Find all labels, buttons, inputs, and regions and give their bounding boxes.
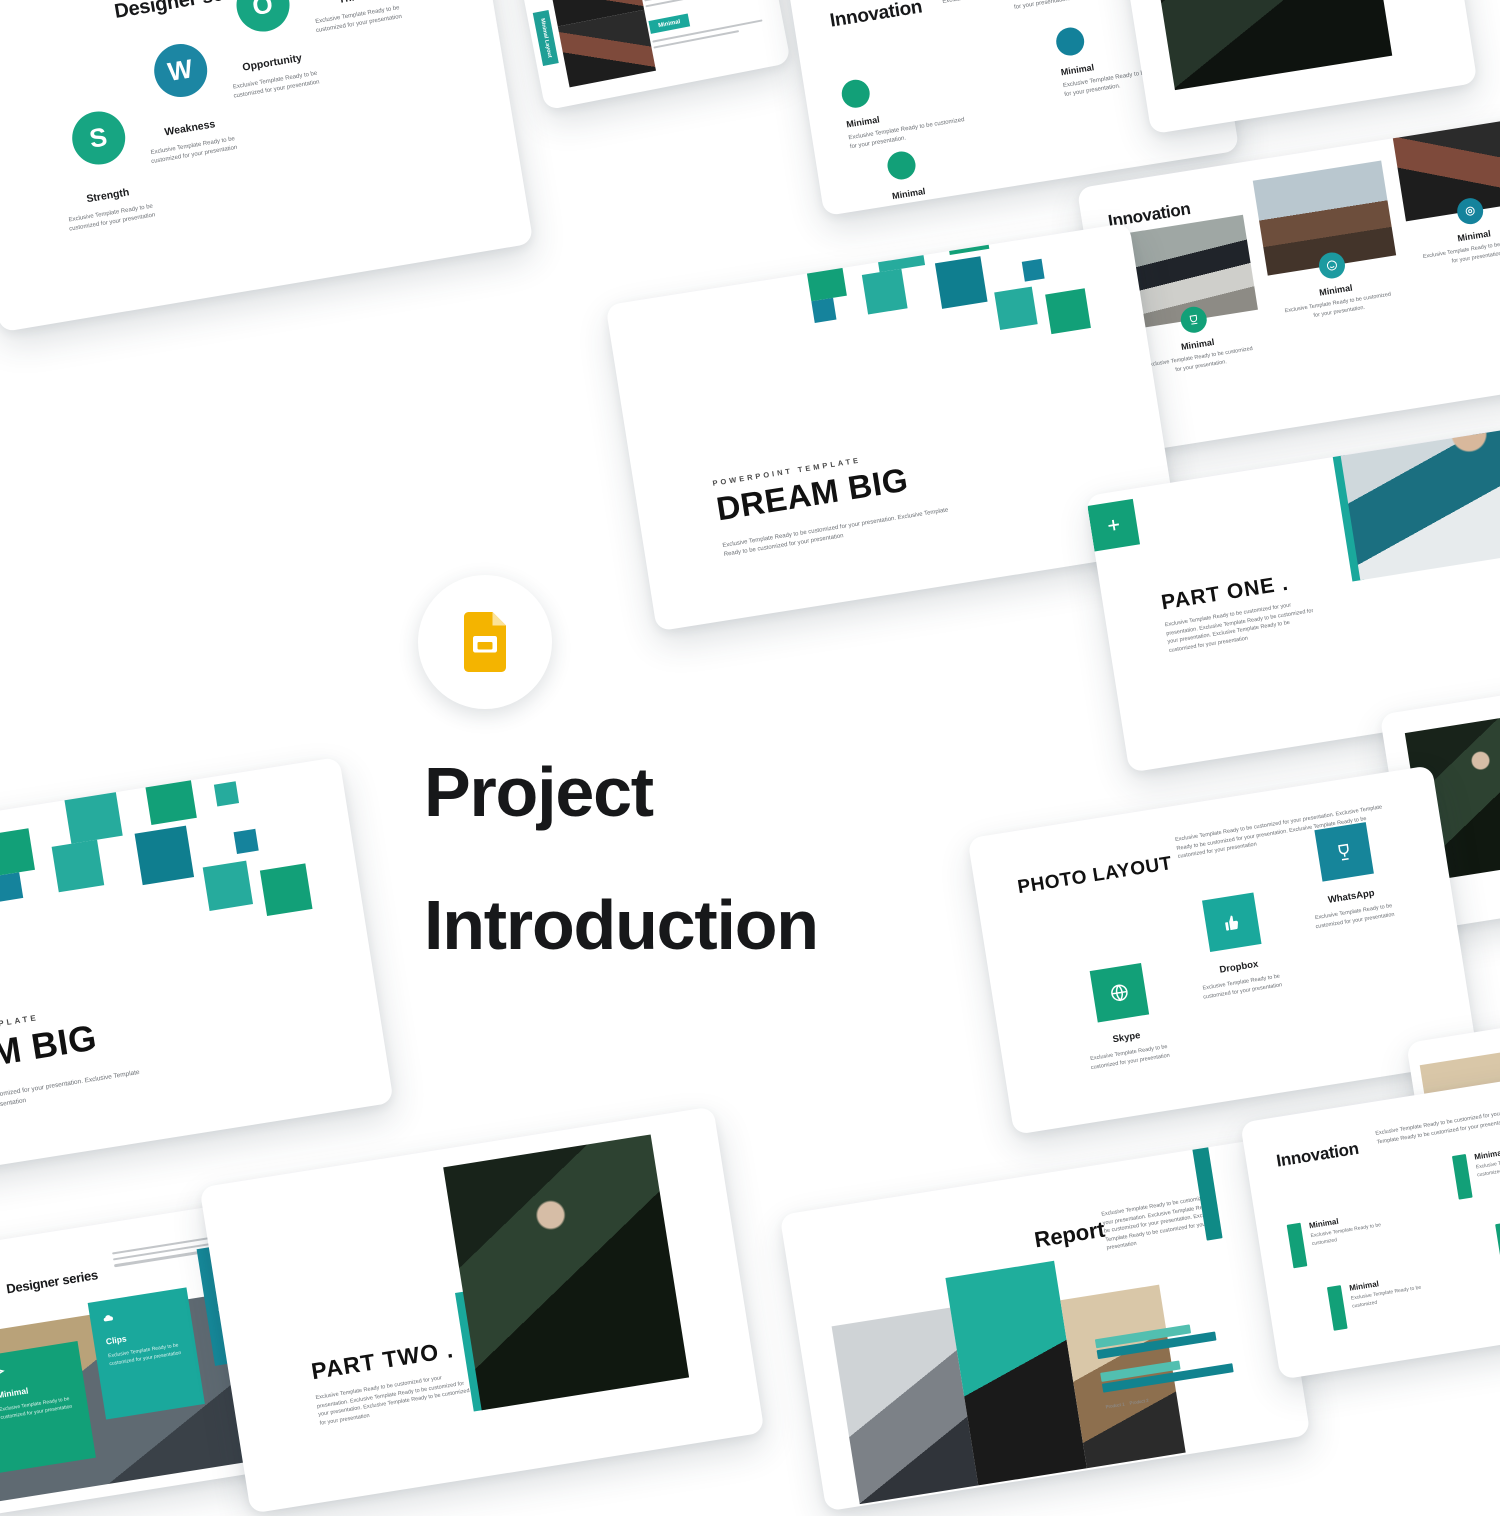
send-icon (0, 1365, 6, 1379)
swot-circle-o: O (232, 0, 293, 36)
swot-letter-o: O (250, 0, 275, 22)
innovation-gym-badge-2[interactable]: Minimal (648, 13, 690, 33)
mosaic-pattern (789, 223, 1181, 439)
innovation-bars-body: Exclusive Template Ready to be customize… (1375, 1100, 1500, 1147)
swot-circle-w: W (150, 40, 211, 101)
innovation-bar-1 (1287, 1223, 1308, 1269)
page-title: Project Introduction (424, 752, 1064, 965)
slides-template-preview-board: Designer series S Strength Exclusive Tem… (0, 0, 1500, 1500)
innovation-bar-2 (1452, 1154, 1473, 1200)
swot-letter-w: W (166, 53, 195, 88)
dream-big-slide-second[interactable]: POWERPOINT TEMPLATE DREAM BIG Exclusive … (0, 757, 394, 1193)
swot-circle-s: S (68, 108, 129, 169)
innovation-dot-1 (840, 78, 872, 110)
innovation-gym-slide[interactable]: Innovation Minimal Minimal Minimal Layou… (515, 0, 791, 110)
swot-letter-s: S (87, 121, 109, 154)
thumb-icon (1202, 893, 1261, 952)
report-chart: Product 1 Product 2 (1067, 1268, 1295, 1429)
plus-icon (1087, 499, 1140, 552)
designer-card-body-2: Exclusive Template Ready to be customize… (108, 1342, 185, 1369)
designer-card-2[interactable]: Clips Exclusive Template Ready to be cus… (88, 1287, 205, 1419)
cloud-icon (101, 1311, 115, 1325)
report-slide[interactable]: Report Exclusive Template Ready to be cu… (780, 1139, 1311, 1512)
innovation-gym-tab[interactable]: Minimal Layout (533, 10, 559, 66)
innovation-dot-4 (1054, 26, 1086, 58)
designer-card-body-1: Exclusive Template Ready to be customize… (0, 1395, 76, 1422)
report-legend-2: Product 2 (1129, 1398, 1149, 1406)
dream-big-2-body: Exclusive Template Ready to be customize… (0, 1066, 154, 1127)
innovation-dot-3 (885, 149, 917, 181)
page-title-line-2: Introduction (424, 885, 1064, 966)
innovation-bar-3 (1327, 1285, 1348, 1331)
part-two-photo (443, 1134, 689, 1410)
report-legend-1: Product 1 (1105, 1402, 1125, 1410)
globe-icon (1090, 963, 1149, 1022)
innovation-bars-title: Innovation (1275, 1139, 1360, 1172)
innovation-dot-body-2: Exclusive Template Ready to be customize… (1012, 0, 1133, 13)
dream-big-slide[interactable]: POWERPOINT TEMPLATE DREAM BIG Exclusive … (605, 223, 1180, 632)
page-title-line-1: Project (424, 752, 1064, 833)
report-title: Report (1033, 1217, 1107, 1254)
google-slides-icon (418, 575, 552, 709)
innovation-dots-title: Innovation (828, 0, 923, 33)
photo-strip-slide-top-right[interactable] (1112, 0, 1477, 134)
part-one-photo (1333, 427, 1500, 580)
innovation-card-photo-3 (1391, 115, 1500, 221)
trophy-icon (1314, 822, 1373, 881)
mosaic-pattern-second (0, 757, 394, 1022)
innovation-bar-4 (1495, 1222, 1500, 1268)
photo-strip-image (1147, 0, 1392, 90)
swot-slide[interactable]: Designer series S Strength Exclusive Tem… (0, 0, 534, 332)
designer-cards-title: Designer series (5, 1267, 99, 1296)
innovation-bars-label-2: Minimal (1474, 1139, 1500, 1162)
innovation-bars-slide[interactable]: Innovation Exclusive Template Ready to b… (1240, 1060, 1500, 1379)
part-two-slide[interactable]: PART TWO . Exclusive Template Ready to b… (199, 1106, 764, 1513)
innovation-dot-label-3: Minimal (891, 168, 1041, 201)
